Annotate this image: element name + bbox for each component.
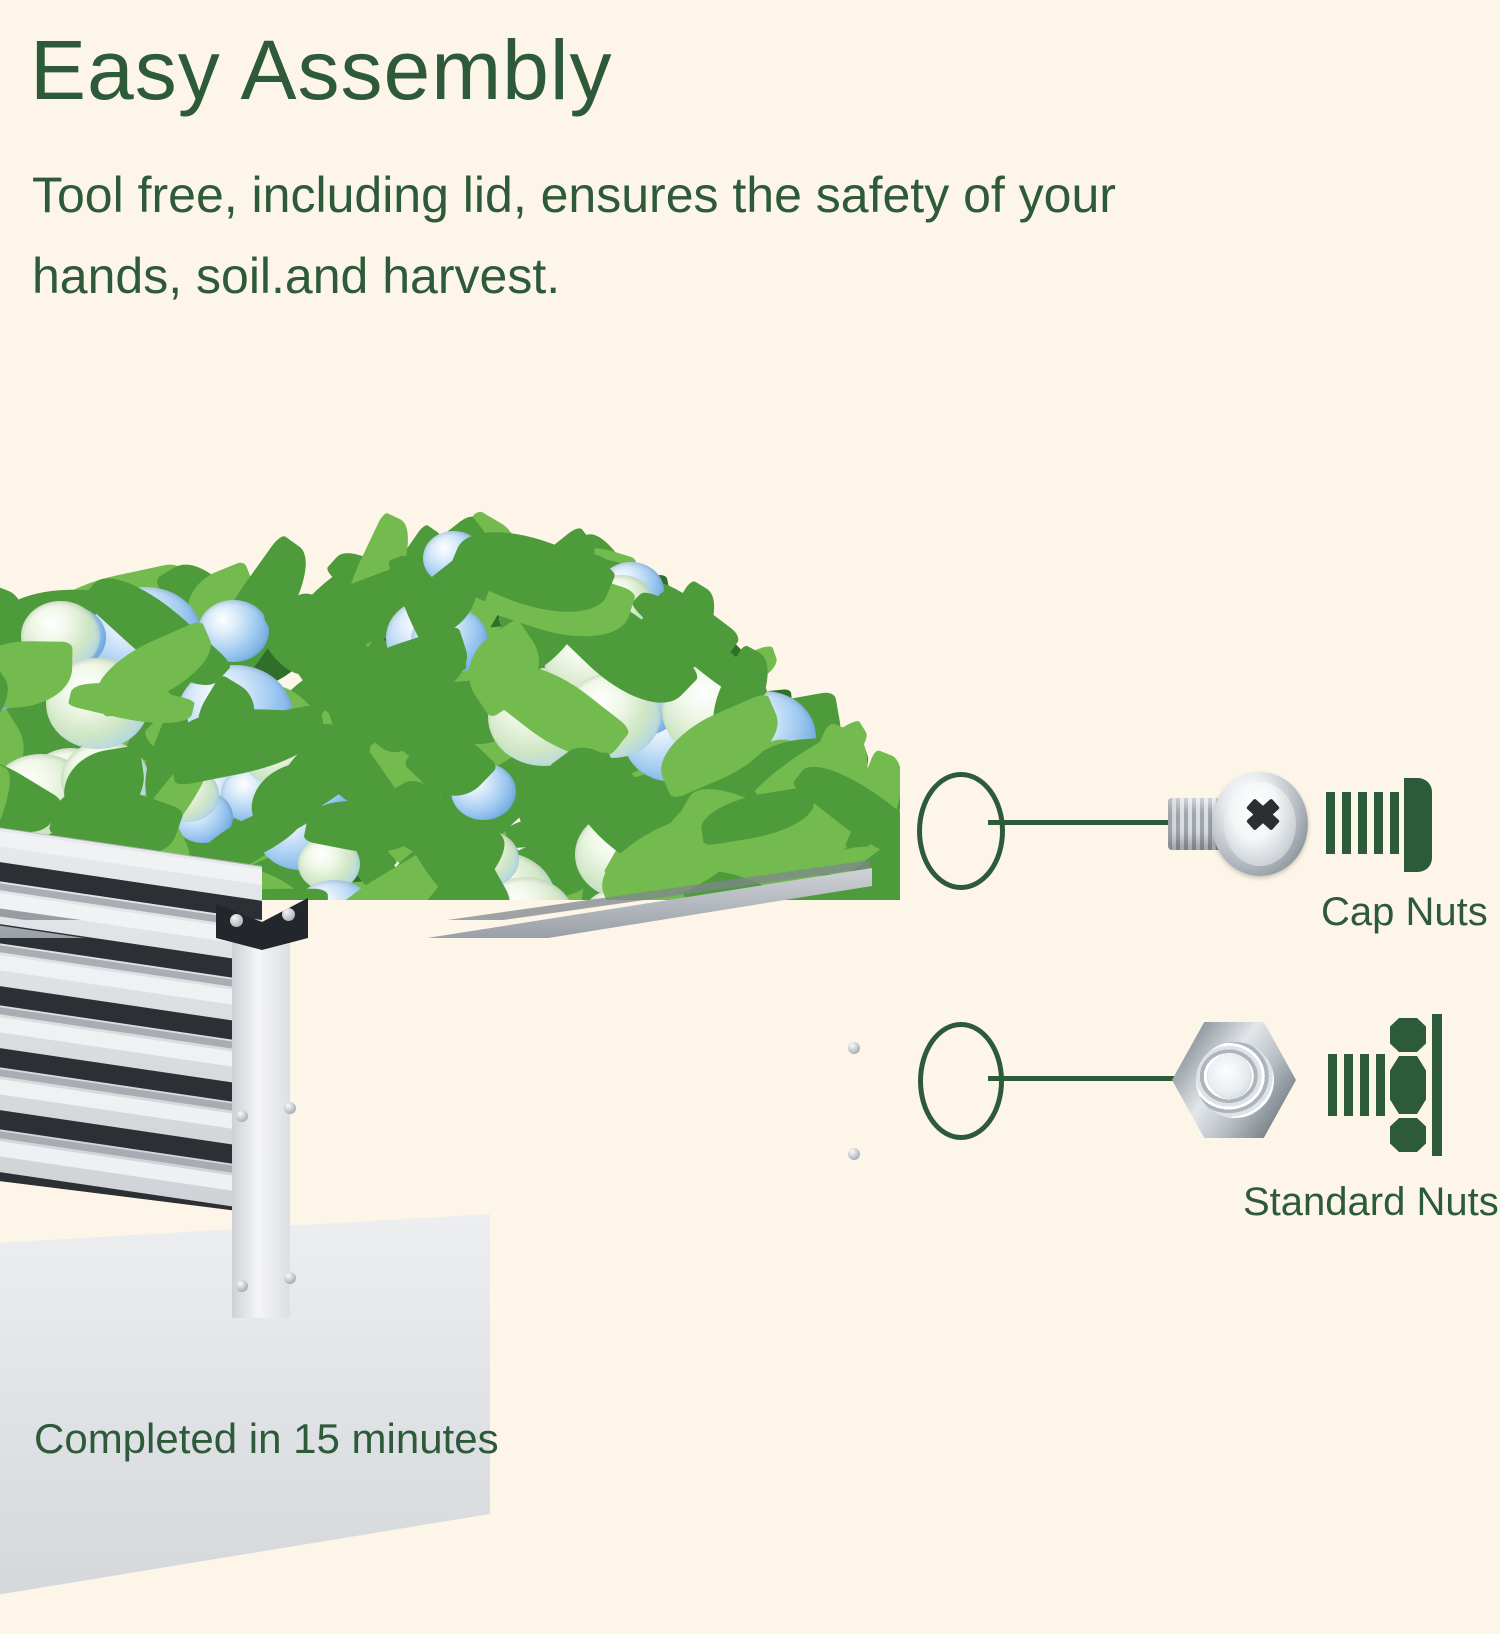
panel-edge-bar (1432, 1014, 1442, 1156)
hex-nut-facet (1390, 1056, 1426, 1114)
bracket-screw-icon (230, 914, 243, 927)
standard-nut-leader-line (988, 1076, 1178, 1081)
cap-nut-location-marker (917, 772, 1005, 890)
thread-bar (1360, 1054, 1369, 1116)
thread-bar (1374, 792, 1383, 854)
thread-bar (1328, 1054, 1337, 1116)
infographic-canvas: Easy Assembly Tool free, including lid, … (0, 0, 1500, 1500)
hex-nut-facet (1390, 1118, 1426, 1152)
thread-bar (1376, 1054, 1385, 1116)
cap-nut-photo (1168, 772, 1298, 876)
hex-nut-bore-opening (1208, 1053, 1252, 1099)
subtitle-line-1: Tool free, including lid, ensures the sa… (32, 155, 1362, 236)
galvanized-planter-box (0, 810, 1000, 1370)
standard-nuts-label: Standard Nuts (1243, 1180, 1499, 1225)
cap-nut-side-view-icon (1326, 778, 1434, 874)
page-subtitle: Tool free, including lid, ensures the sa… (32, 155, 1362, 317)
cap-head-block (1404, 778, 1432, 872)
page-title: Easy Assembly (30, 28, 613, 112)
panel-screw-icon (236, 1280, 248, 1292)
panel-screw-icon (848, 1148, 860, 1160)
completion-time-note: Completed in 15 minutes (34, 1418, 499, 1460)
standard-nut-side-view-icon (1328, 1014, 1440, 1156)
cap-nuts-label: Cap Nuts (1321, 890, 1488, 935)
hex-nut-photo (1172, 1022, 1296, 1138)
thread-bar (1344, 1054, 1353, 1116)
thread-bar (1342, 792, 1351, 854)
panel-screw-icon (848, 1042, 860, 1054)
bracket-screw-icon (282, 908, 295, 921)
planter-corner-post (232, 932, 290, 1318)
panel-screw-icon (236, 1110, 248, 1122)
panel-screw-icon (284, 1272, 296, 1284)
thread-bar (1390, 792, 1399, 854)
panel-screw-icon (284, 1102, 296, 1114)
thread-bar (1326, 792, 1335, 854)
standard-nut-location-marker (918, 1022, 1004, 1140)
hex-nut-facet (1390, 1018, 1426, 1052)
subtitle-line-2: hands, soil.and harvest. (32, 236, 1362, 317)
cap-nut-leader-line (988, 820, 1178, 825)
thread-bar (1358, 792, 1367, 854)
raised-garden-bed-illustration (0, 430, 1000, 1370)
planter-left-panel (0, 810, 262, 1214)
